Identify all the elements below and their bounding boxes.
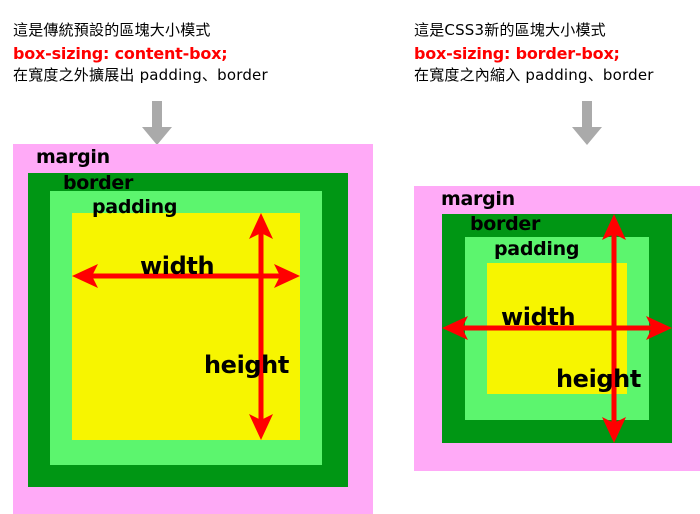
label-padding: padding bbox=[494, 238, 579, 260]
caption-left-line1: 這是傳統預設的區塊大小模式 bbox=[13, 20, 268, 42]
height-arrow-vertical bbox=[599, 214, 629, 443]
caption-right-line1: 這是CSS3新的區塊大小模式 bbox=[414, 20, 654, 42]
label-height: height bbox=[556, 365, 641, 393]
label-border: border bbox=[63, 172, 133, 194]
caption-border-box: 這是CSS3新的區塊大小模式 box-sizing: border-box; 在… bbox=[414, 20, 654, 87]
label-border: border bbox=[470, 213, 540, 235]
caption-left-code: box-sizing: content-box; bbox=[13, 42, 268, 65]
label-margin: margin bbox=[441, 188, 515, 210]
caption-right-code: box-sizing: border-box; bbox=[414, 42, 654, 65]
arrow-down-icon bbox=[140, 101, 174, 145]
arrow-down-icon bbox=[570, 101, 604, 145]
caption-right-line3: 在寬度之內縮入 padding、border bbox=[414, 65, 654, 87]
label-height: height bbox=[204, 351, 289, 379]
label-width: width bbox=[501, 303, 575, 331]
diagram-canvas: 這是傳統預設的區塊大小模式 box-sizing: content-box; 在… bbox=[0, 0, 700, 514]
height-arrow-vertical bbox=[246, 213, 276, 440]
label-padding: padding bbox=[92, 196, 177, 218]
label-margin: margin bbox=[36, 146, 110, 168]
caption-left-line3: 在寬度之外擴展出 padding、border bbox=[13, 65, 268, 87]
caption-content-box: 這是傳統預設的區塊大小模式 box-sizing: content-box; 在… bbox=[13, 20, 268, 87]
label-width: width bbox=[140, 252, 214, 280]
